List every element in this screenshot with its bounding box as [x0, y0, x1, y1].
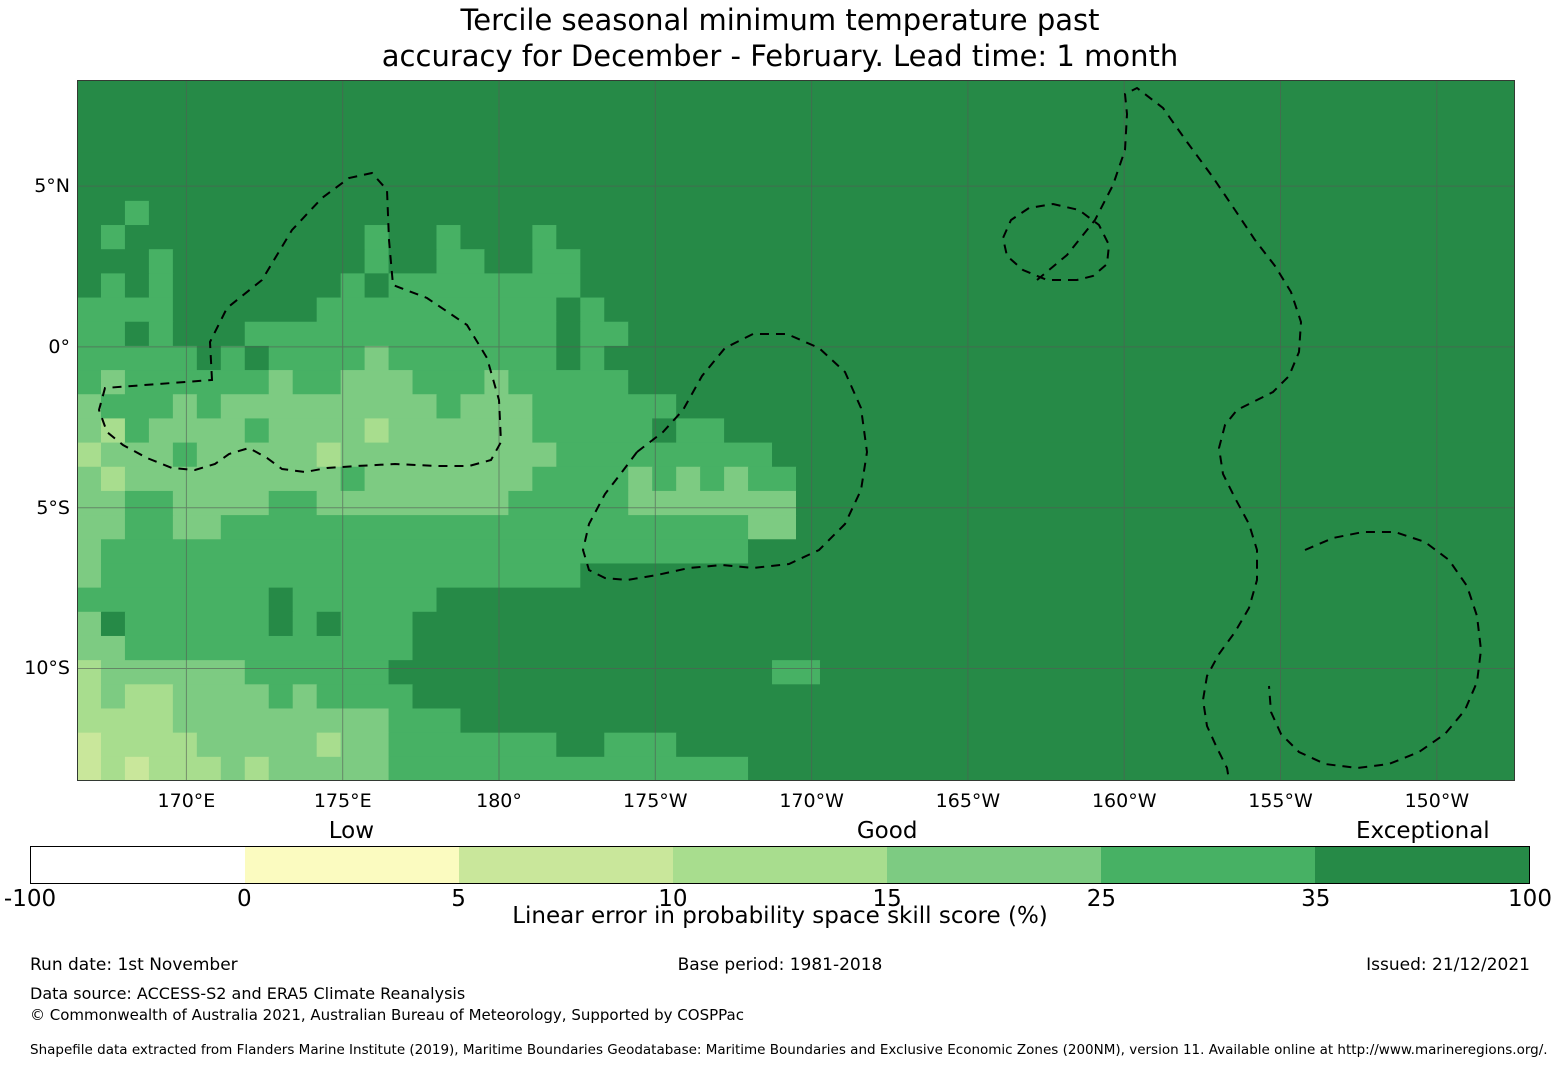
colorbar-segment[interactable] — [887, 847, 1101, 883]
map-plot-area[interactable] — [77, 80, 1515, 781]
copyright-text: © Commonwealth of Australia 2021, Austra… — [30, 1006, 744, 1024]
colorbar-segment[interactable] — [459, 847, 673, 883]
lon-tick-label: 155°W — [1248, 790, 1313, 812]
colorbar-segment[interactable] — [673, 847, 887, 883]
lat-tick-label: 5°N — [8, 175, 70, 197]
colorbar-segment[interactable] — [1315, 847, 1529, 883]
shapefile-note-text: Shapefile data extracted from Flanders M… — [30, 1042, 1548, 1058]
base-period-text: Base period: 1981-2018 — [678, 955, 883, 975]
skill-score-heatmap — [77, 80, 1515, 781]
lon-tick-label: 170°W — [779, 790, 844, 812]
colorbar-category-label: Low — [329, 818, 374, 844]
lon-tick-label: 180° — [476, 790, 522, 812]
lat-tick-label: 10°S — [8, 657, 70, 679]
lat-tick-label: 0° — [8, 336, 70, 358]
run-date-text: Run date: 1st November — [30, 955, 238, 975]
lat-tick-label: 5°S — [8, 497, 70, 519]
data-source-text: Data source: ACCESS-S2 and ERA5 Climate … — [30, 984, 465, 1003]
colorbar-axis-label: Linear error in probability space skill … — [0, 903, 1560, 929]
colorbar-category-label: Exceptional — [1356, 818, 1490, 844]
lon-tick-label: 165°W — [936, 790, 1001, 812]
colorbar[interactable] — [30, 846, 1530, 884]
lon-tick-label: 170°E — [158, 790, 216, 812]
page-title: Tercile seasonal minimum temperature pas… — [0, 2, 1560, 74]
colorbar-segment[interactable] — [245, 847, 459, 883]
footer-row-primary: Run date: 1st November Base period: 1981… — [0, 955, 1560, 979]
footer: Run date: 1st November Base period: 1981… — [0, 955, 1560, 979]
colorbar-category-labels: LowGoodExceptional — [0, 818, 1560, 848]
colorbar-segment[interactable] — [31, 847, 245, 883]
lon-tick-label: 150°W — [1405, 790, 1470, 812]
colorbar-category-label: Good — [857, 818, 918, 844]
lon-tick-label: 175°W — [623, 790, 688, 812]
issued-date-text: Issued: 21/12/2021 — [1366, 955, 1530, 975]
colorbar-segment[interactable] — [1101, 847, 1315, 883]
lon-tick-label: 175°E — [314, 790, 372, 812]
lon-tick-label: 160°W — [1092, 790, 1157, 812]
